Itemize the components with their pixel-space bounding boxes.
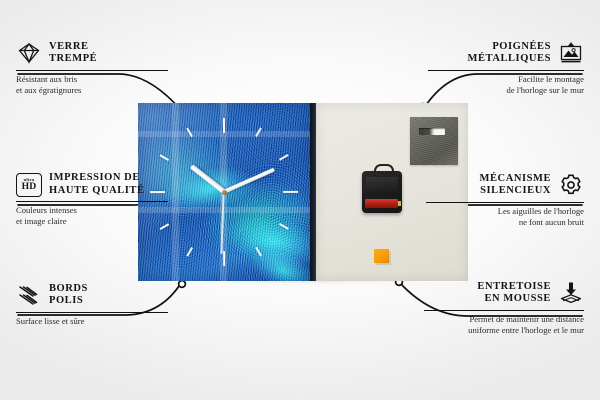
hanging-loop xyxy=(374,164,394,176)
callout-rule xyxy=(16,70,168,71)
callout-impression-haute-qualite: ultra HD IMPRESSION DE HAUTE QUALITÉ Cou… xyxy=(16,172,176,226)
metal-hanger-plate xyxy=(410,117,458,165)
callout-poignees-metalliques: POIGNÉES MÉTALLIQUES Facilite le montage… xyxy=(426,40,584,95)
callout-subtitle: Permet de maintenir une distance uniform… xyxy=(422,314,584,335)
polished-edges-icon xyxy=(16,282,42,308)
callout-rule xyxy=(16,312,168,313)
picture-frame-hanger-icon xyxy=(558,40,584,66)
infographic-canvas: VERRE TREMPÉ Résistant aux bris et aux é… xyxy=(0,0,600,400)
ultra-hd-badge-main-text: HD xyxy=(22,182,37,192)
callout-title: BORDS POLIS xyxy=(49,283,88,308)
callout-title: POIGNÉES MÉTALLIQUES xyxy=(468,41,551,66)
callout-subtitle: Résistant aux bris et aux égratignures xyxy=(16,74,174,95)
callout-title: IMPRESSION DE HAUTE QUALITÉ xyxy=(49,172,145,197)
ultra-hd-badge-icon: ultra HD xyxy=(16,173,42,197)
callout-title: MÉCANISME SILENCIEUX xyxy=(480,173,551,198)
product-photo xyxy=(138,103,468,281)
foam-spacer xyxy=(374,249,389,263)
callout-title: ENTRETOISE EN MOUSSE xyxy=(477,281,551,306)
clock-tick xyxy=(224,191,298,193)
callout-subtitle: Couleurs intenses et image claire xyxy=(16,205,176,226)
callout-rule xyxy=(428,70,584,71)
callout-rule xyxy=(426,202,584,203)
clock-center-hub xyxy=(222,190,227,195)
arrow-down-onto-pad-icon xyxy=(558,280,584,306)
callout-mecanisme-silencieux: MÉCANISME SILENCIEUX Les aiguilles de l'… xyxy=(424,172,584,227)
callout-entretoise-en-mousse: ENTRETOISE EN MOUSSE Permet de maintenir… xyxy=(422,280,584,335)
callout-subtitle: Facilite le montage de l'horloge sur le … xyxy=(426,74,584,95)
callout-verre-trempe: VERRE TREMPÉ Résistant aux bris et aux é… xyxy=(16,40,174,95)
mechanism-face-plate xyxy=(366,177,398,193)
battery xyxy=(365,199,398,208)
diamond-icon xyxy=(16,40,42,66)
callout-title: VERRE TREMPÉ xyxy=(49,41,97,66)
callout-rule xyxy=(424,310,584,311)
hanger-slot xyxy=(419,128,445,135)
callout-subtitle: Surface lisse et sûre xyxy=(16,316,174,326)
clock-tick xyxy=(223,118,225,192)
gear-icon xyxy=(558,172,584,198)
callout-subtitle: Les aiguilles de l'horloge ne font aucun… xyxy=(424,206,584,227)
callout-bords-polis: BORDS POLIS Surface lisse et sûre xyxy=(16,282,174,327)
callout-rule xyxy=(16,201,168,202)
clock-mechanism-housing xyxy=(362,171,402,213)
